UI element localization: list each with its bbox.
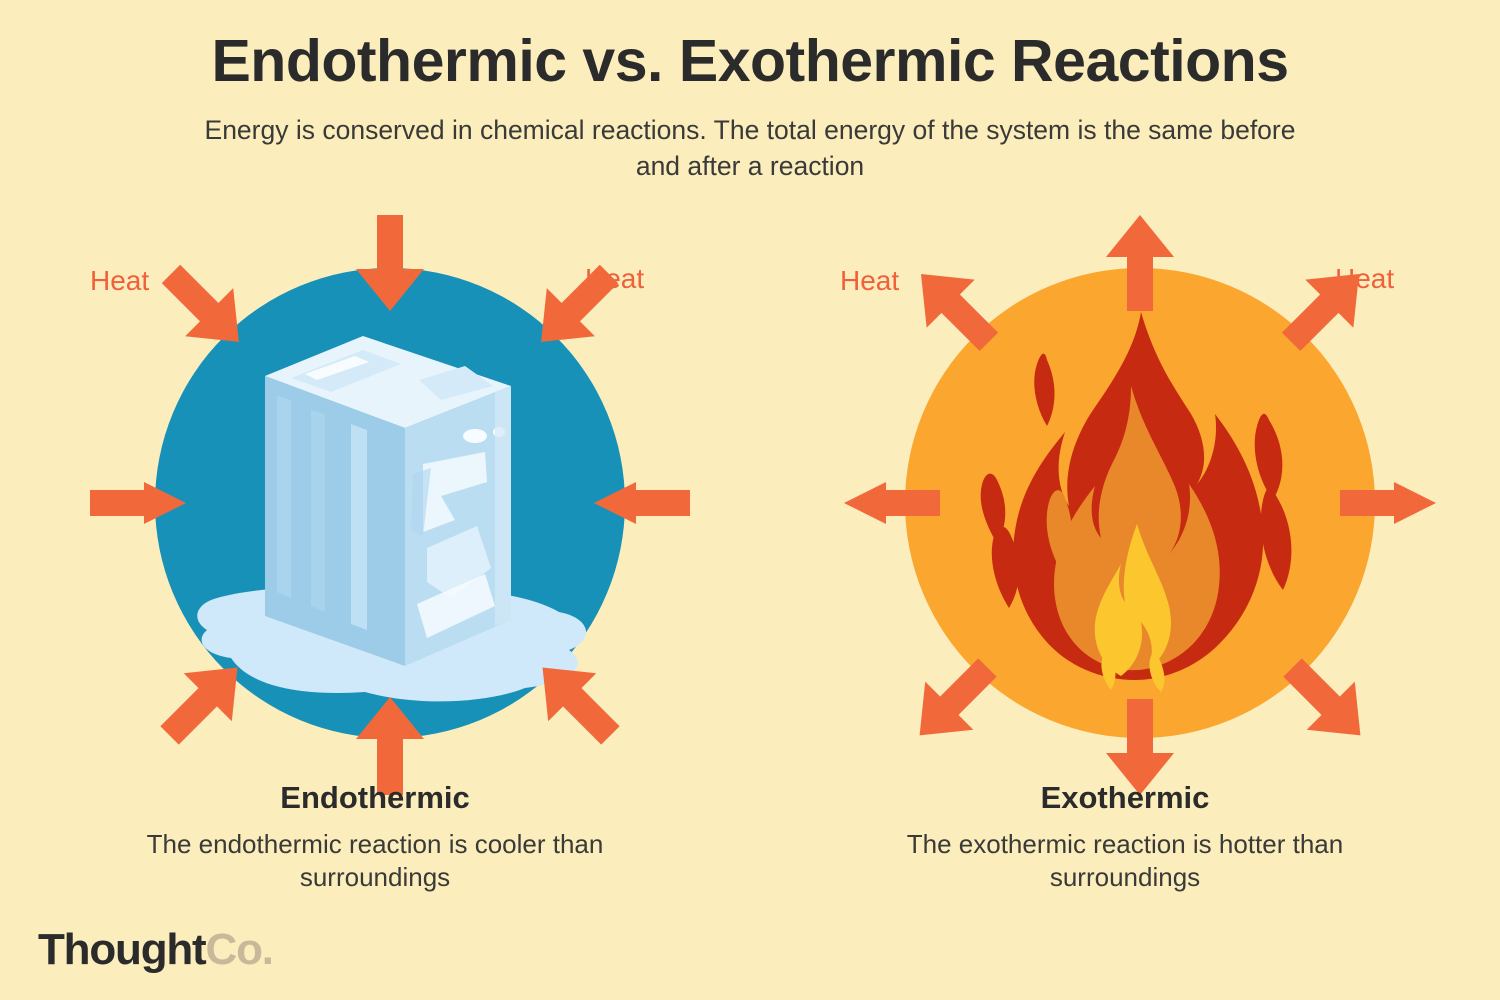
caption-title-endothermic: Endothermic [0,780,750,816]
heat-label-top-left: Heat [840,265,899,297]
panel-exothermic: Heat Heat [750,205,1500,805]
page-subtitle: Energy is conserved in chemical reaction… [195,94,1305,184]
caption-exothermic: Exothermic The exothermic reaction is ho… [750,780,1500,894]
infographic-canvas: Endothermic vs. Exothermic Reactions Ene… [0,0,1500,1000]
flame-icon [905,268,1375,738]
heat-label-top-right: Heat [1335,263,1394,295]
heat-label-top-right: Heat [585,263,644,295]
melting-ice-cube-icon [155,268,625,738]
logo-word-thought: Thought [38,925,206,974]
heat-label-top-left: Heat [90,265,149,297]
page-title: Endothermic vs. Exothermic Reactions [0,0,1500,94]
caption-body-endothermic: The endothermic reaction is cooler than … [85,828,665,894]
caption-endothermic: Endothermic The endothermic reaction is … [0,780,750,894]
header: Endothermic vs. Exothermic Reactions Ene… [0,0,1500,184]
logo-word-co: Co. [206,925,273,974]
panel-endothermic: Heat Heat [0,205,750,805]
caption-title-exothermic: Exothermic [750,780,1500,816]
caption-body-exothermic: The exothermic reaction is hotter than s… [835,828,1415,894]
thoughtco-logo: ThoughtCo. [38,925,273,975]
